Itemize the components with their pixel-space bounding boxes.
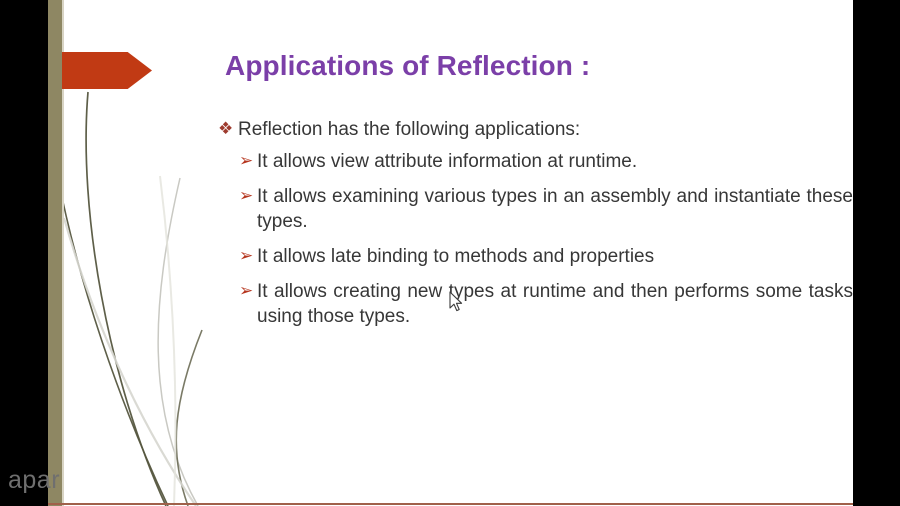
list-item: ➢ It allows late binding to methods and …: [239, 245, 853, 269]
list-item: ➢ It allows creating new types at runtim…: [239, 280, 853, 329]
letterbox-bar-right: [853, 0, 900, 506]
diamond-bullet-icon: ❖: [218, 118, 238, 140]
olive-side-stripe: [48, 0, 62, 506]
bottom-rule-line: [48, 503, 853, 505]
list-item: ❖ Reflection has the following applicati…: [218, 118, 853, 141]
red-arrow-banner-shape: [62, 52, 152, 89]
slide-canvas: Applications of Reflection : ❖ Reflectio…: [48, 0, 853, 506]
slide-title: Applications of Reflection :: [225, 50, 590, 82]
list-item: ➢ It allows view attribute information a…: [239, 150, 853, 174]
list-item-label: It allows view attribute information at …: [257, 150, 853, 174]
list-item: ➢ It allows examining various types in a…: [239, 185, 853, 234]
list-item-label: It allows examining various types in an …: [257, 185, 853, 234]
watermark-text: apar: [8, 466, 60, 495]
list-item-label: Reflection has the following application…: [238, 118, 580, 141]
arrow-bullet-icon: ➢: [239, 185, 257, 207]
bullet-list: ❖ Reflection has the following applicati…: [218, 118, 853, 340]
arrow-bullet-icon: ➢: [239, 280, 257, 302]
letterbox-bar-left: [0, 0, 48, 506]
list-item-label: It allows late binding to methods and pr…: [257, 245, 853, 269]
list-item-label: It allows creating new types at runtime …: [257, 280, 853, 329]
arrow-bullet-icon: ➢: [239, 150, 257, 172]
presentation-screenshot: Applications of Reflection : ❖ Reflectio…: [0, 0, 900, 506]
arrow-bullet-icon: ➢: [239, 245, 257, 267]
